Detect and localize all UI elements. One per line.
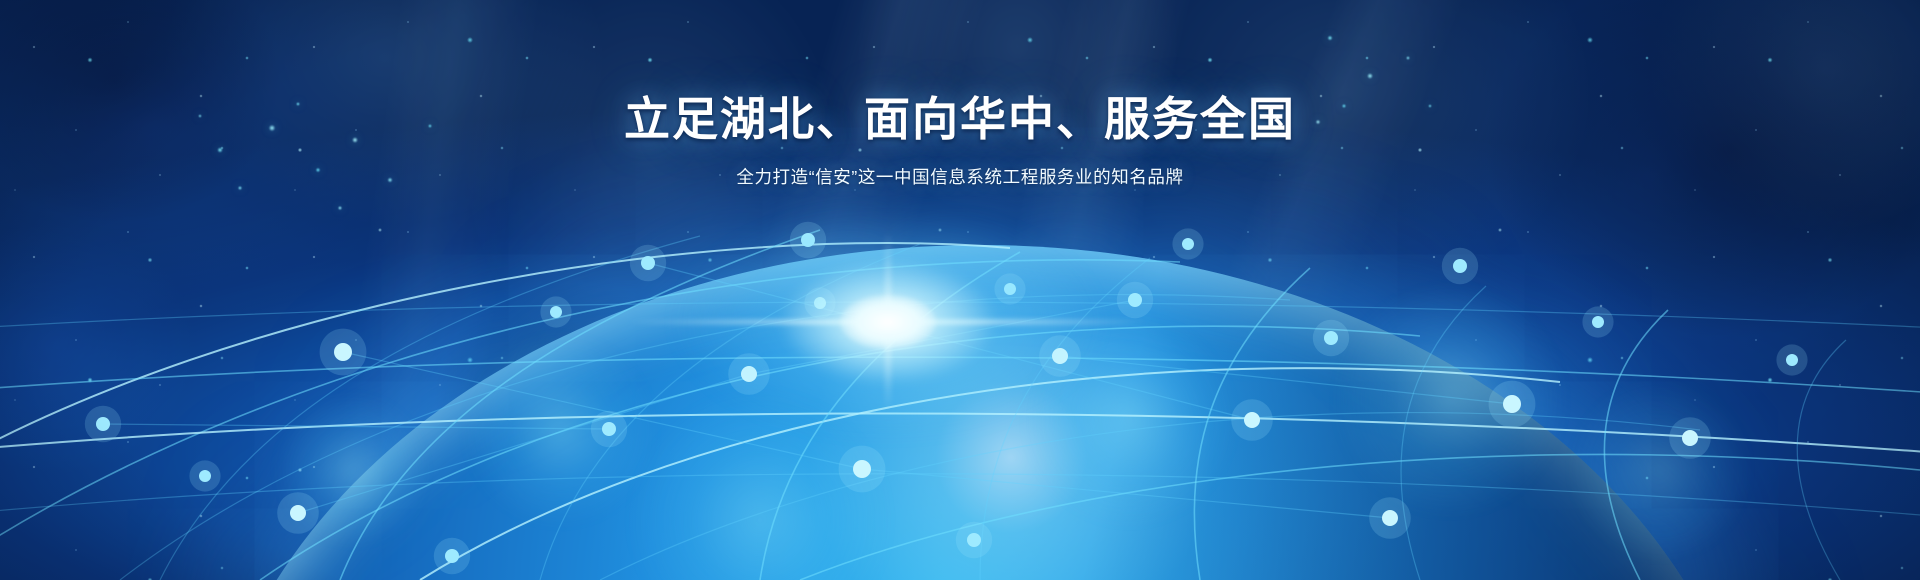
network-node-halo [540,296,571,327]
network-arc [103,424,609,429]
network-node-halo [85,406,121,442]
globe-glow-spot [277,395,427,545]
network-node-halo [1313,320,1349,356]
network-arc [1401,286,1486,580]
network-node [1453,259,1467,273]
network-node [1786,354,1798,366]
network-node [290,505,306,521]
network-node-halo [189,460,220,491]
network-arc [1604,310,1668,580]
network-node-halo [1369,497,1411,539]
network-arc [1797,340,1846,580]
network-node [1182,238,1194,250]
flare-core [840,295,936,349]
network-arc [800,454,1920,580]
network-node-halo [277,492,319,534]
network-node [334,343,352,361]
network-node-halo [1172,228,1203,259]
network-node [1682,430,1698,446]
banner-copy: 立足湖北、面向华中、服务全国 全力打造“信安”这一中国信息系统工程服务业的知名品… [0,92,1920,189]
network-node [602,422,616,436]
network-node [1244,412,1260,428]
network-node-halo [1582,306,1613,337]
network-node [550,306,562,318]
network-node-halo [1231,399,1273,441]
network-node-halo [630,245,666,281]
network-node-halo [839,446,886,493]
network-node-halo [320,329,367,376]
network-node-halo [1669,417,1711,459]
globe-glow-spot [1570,380,1750,560]
network-node [1128,293,1142,307]
network-node-halo [591,411,627,447]
network-node-halo [1117,282,1153,318]
network-node [967,533,981,547]
network-arc [160,236,700,580]
network-arc [1060,356,1512,404]
network-node-halo [1442,248,1478,284]
network-node [96,417,110,431]
network-node-halo [956,522,992,558]
banner-headline: 立足湖北、面向华中、服务全国 [0,92,1920,146]
network-node [1592,316,1604,328]
network-node [1324,331,1338,345]
network-node-halo [1776,344,1807,375]
hero-banner: 立足湖北、面向华中、服务全国 全力打造“信安”这一中国信息系统工程服务业的知名品… [0,0,1920,580]
network-node [853,460,871,478]
network-node [199,470,211,482]
network-arc [600,413,1700,580]
network-node-halo [1489,381,1536,428]
network-arc [298,374,749,513]
network-node-halo [434,538,470,574]
network-arc [862,469,1390,518]
network-arc [1194,268,1310,580]
network-arc [0,474,1920,520]
network-node [1503,395,1521,413]
network-node [641,256,655,270]
network-node [445,549,459,563]
banner-subheadline: 全力打造“信安”这一中国信息系统工程服务业的知名品牌 [0,164,1920,189]
globe-glow-spot [465,335,655,525]
globe-glow-spot [1335,285,1565,515]
network-node [1382,510,1398,526]
